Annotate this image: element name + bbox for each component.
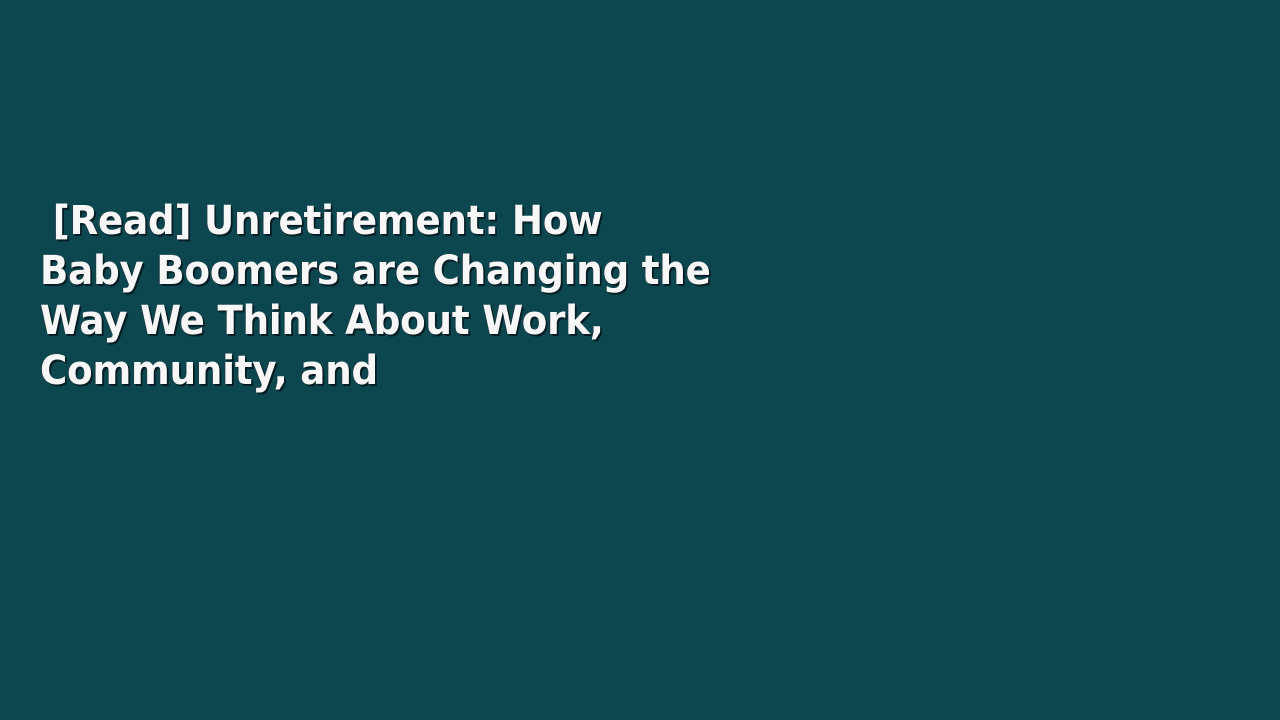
title-line-4: Community, and bbox=[40, 346, 803, 396]
page-title: [Read] Unretirement: How Baby Boomers ar… bbox=[40, 196, 860, 396]
title-line-3: Way We Think About Work, bbox=[40, 296, 803, 346]
title-line-2: Baby Boomers are Changing the bbox=[40, 246, 803, 296]
thumbnail-card: [Read] Unretirement: How Baby Boomers ar… bbox=[0, 0, 1280, 720]
title-line-1: [Read] Unretirement: How bbox=[40, 196, 803, 246]
